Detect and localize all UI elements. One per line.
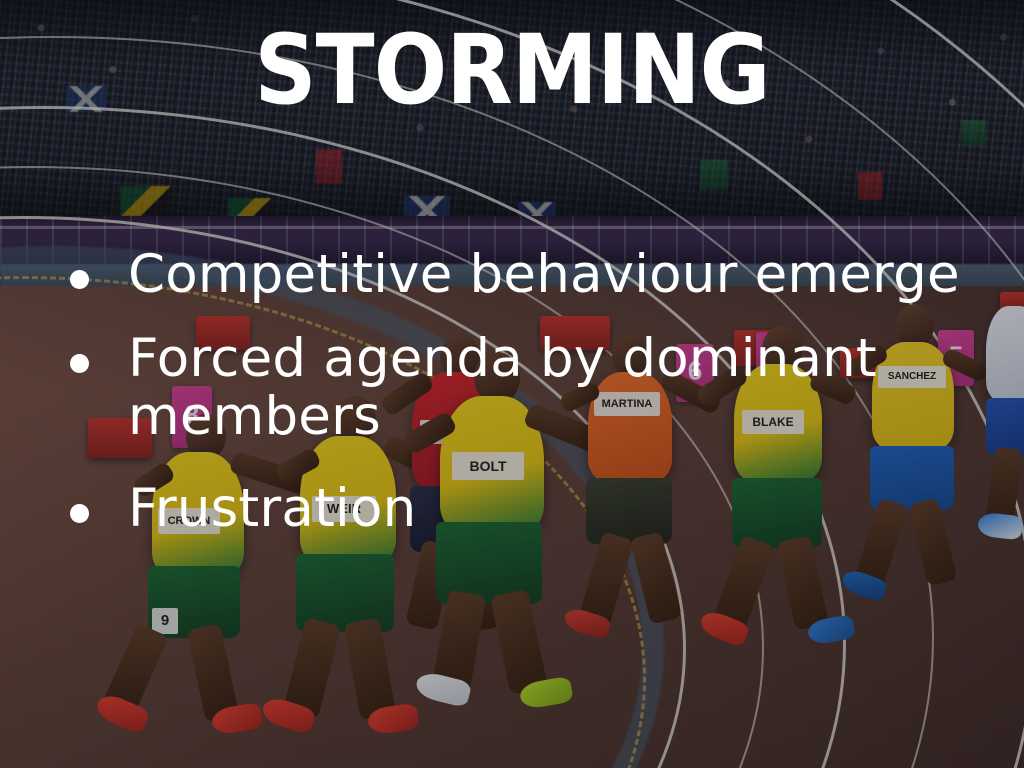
bullet-list: Competitive behaviour emerge Forced agen… [56,246,968,554]
list-item: Frustration [56,480,968,538]
bullet-dot-icon [70,354,89,373]
bullet-dot-icon [70,504,89,523]
page-title: STORMING [51,22,973,118]
list-item-label: Forced agenda by dominant members [128,330,968,446]
list-item-label: Frustration [128,480,968,538]
bullet-dot-icon [70,270,89,289]
list-item: Competitive behaviour emerge [56,246,968,304]
slide-storming: 8 6 5 CROWN 9 WEIR [0,0,1024,768]
slide-content: STORMING Competitive behaviour emerge Fo… [0,0,1024,768]
list-item: Forced agenda by dominant members [56,330,968,446]
list-item-label: Competitive behaviour emerge [128,246,968,304]
